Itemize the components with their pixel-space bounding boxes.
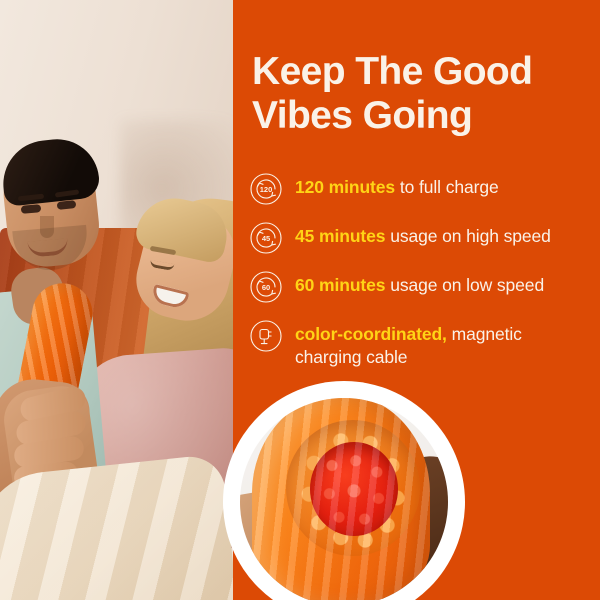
svg-text:45: 45 [262,234,270,243]
promo-graphic: Keep The Good Vibes Going 120 120 minute… [0,0,600,600]
list-item-rest: to full charge [395,177,499,197]
list-item: 120 120 minutes to full charge [250,172,590,205]
usage-timer-60-icon: 60 [250,271,282,303]
headline-line-2: Vibes Going [252,94,472,137]
list-item-text: color-coordinated, magnetic charging cab… [295,319,590,369]
headline-line-1: Keep The Good [252,50,532,93]
list-item-text: 45 minutes usage on high speed [295,221,551,248]
svg-text:120: 120 [260,185,273,194]
page-title: Keep The Good Vibes Going [252,50,582,137]
product-body [252,398,430,600]
list-item-rest: usage on high speed [385,226,550,246]
usage-timer-45-icon: 45 [250,222,282,254]
product-nub-ring [292,426,414,550]
product-inset-circle [232,390,456,600]
product-textured-core [310,442,398,536]
list-item: 60 60 minutes usage on low speed [250,270,590,303]
svg-text:60: 60 [262,283,270,292]
lifestyle-photo [0,0,233,600]
charge-timer-120-icon: 120 [250,173,282,205]
magnetic-charging-plug-icon [250,320,282,352]
bed-blanket [0,453,233,600]
list-item-text: 60 minutes usage on low speed [295,270,544,297]
list-item-highlight: 45 minutes [295,226,385,246]
list-item-rest: usage on low speed [385,275,544,295]
product-rim [286,420,420,556]
list-item-highlight: 60 minutes [295,275,385,295]
list-item: color-coordinated, magnetic charging cab… [250,319,590,369]
list-item-text: 120 minutes to full charge [295,172,499,199]
feature-list: 120 120 minutes to full charge 45 45 min… [250,172,590,369]
product-closeup-photo [240,398,448,600]
list-item-highlight: 120 minutes [295,177,395,197]
list-item-highlight: color-coordinated, [295,324,447,344]
list-item: 45 45 minutes usage on high speed [250,221,590,254]
